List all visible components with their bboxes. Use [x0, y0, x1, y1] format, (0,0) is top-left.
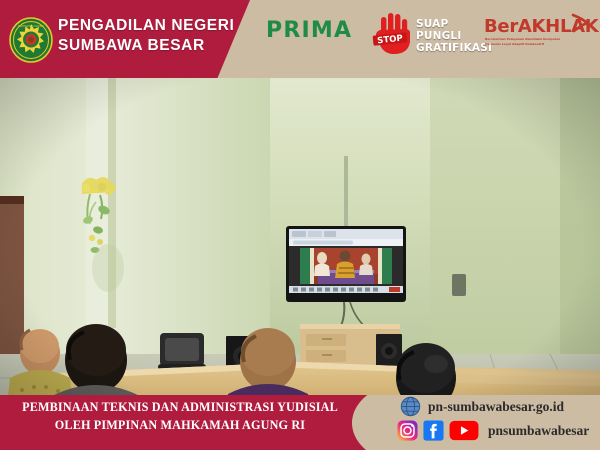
stop-pungli-text: SUAP PUNGLI GRATIFIKASI	[416, 19, 492, 54]
facebook-icon[interactable]	[423, 420, 444, 441]
swoosh-icon	[570, 13, 590, 33]
pungli-line-3: GRATIFIKASI	[416, 43, 492, 55]
prima-logo-label: PRIMA	[266, 18, 352, 43]
berakhlak-logo: BerAKHLAK Berorientasi Pelayanan Akuntab…	[484, 16, 592, 60]
caption-line-2: OLEH PIMPINAN MAHKAMAH AGUNG RI	[0, 417, 360, 435]
social-handle[interactable]: pnsumbawabesar	[488, 423, 589, 439]
poster-canvas: MAHKAMAH AGUNG PENGADILAN NEGERI SUMBAWA…	[0, 0, 600, 450]
social-row[interactable]: pnsumbawabesar	[397, 420, 589, 441]
court-name-line-2: SUMBAWA BESAR	[58, 36, 234, 56]
berakhlak-tagline-line-2: Harmonis Loyal Adaptif Kolaboratif	[485, 42, 589, 47]
globe-icon	[400, 396, 421, 417]
svg-text:MAHKAMAH AGUNG: MAHKAMAH AGUNG	[18, 24, 44, 28]
berakhlak-tagline: Berorientasi Pelayanan Akuntabel Kompete…	[485, 37, 589, 46]
youtube-icon[interactable]	[449, 420, 479, 441]
website-url[interactable]: pn-sumbawabesar.go.id	[428, 399, 564, 415]
stop-pungli-logo: STOP SUAP PUNGLI GRATIFIKASI	[372, 10, 468, 68]
berakhlak-prefix: Ber	[484, 16, 518, 37]
poster-header: MAHKAMAH AGUNG PENGADILAN NEGERI SUMBAWA…	[0, 0, 600, 78]
stop-hand-icon: STOP	[372, 12, 416, 64]
pungli-line-2: PUNGLI	[416, 31, 492, 43]
instagram-icon[interactable]	[397, 420, 418, 441]
event-caption: PEMBINAAN TEKNIS DAN ADMINISTRASI YUDISI…	[0, 399, 360, 434]
court-name-line-1: PENGADILAN NEGERI	[58, 16, 234, 36]
court-title: PENGADILAN NEGERI SUMBAWA BESAR	[58, 16, 234, 56]
website-row[interactable]: pn-sumbawabesar.go.id	[400, 396, 564, 417]
caption-line-1: PEMBINAAN TEKNIS DAN ADMINISTRASI YUDISI…	[0, 399, 360, 417]
mahkamah-agung-emblem-icon: MAHKAMAH AGUNG	[8, 17, 54, 63]
